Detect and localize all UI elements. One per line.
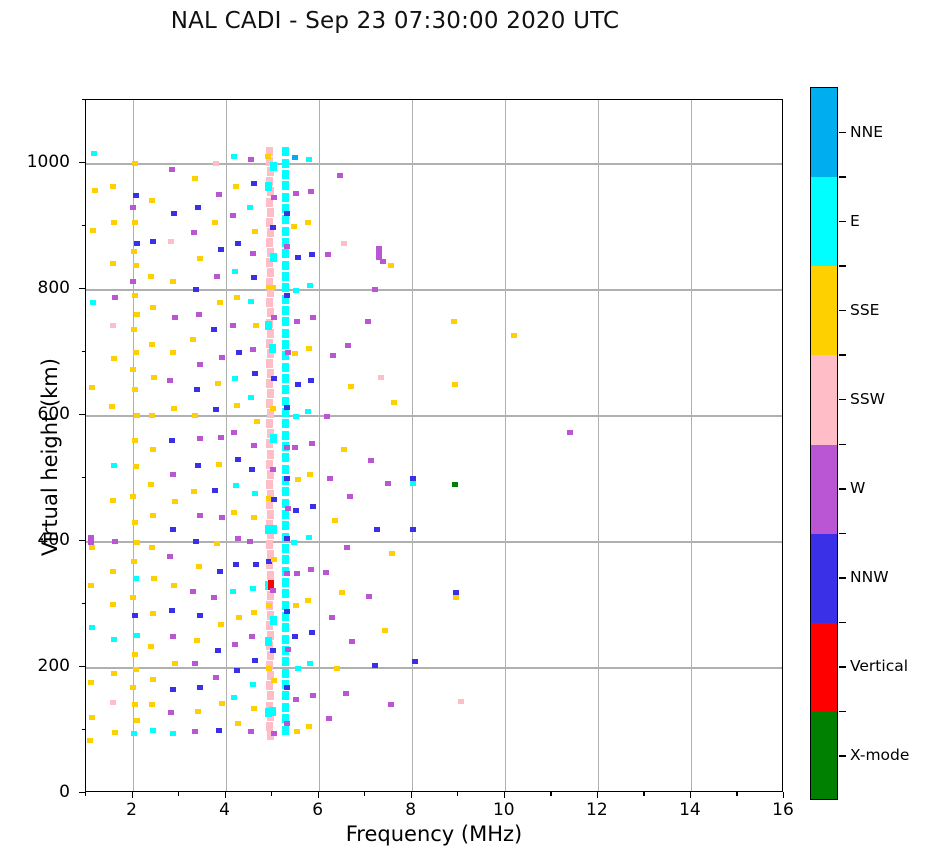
data-point [150, 305, 156, 310]
data-point [216, 462, 222, 467]
data-point [292, 634, 298, 639]
data-point [344, 545, 350, 550]
data-point [284, 405, 290, 410]
data-point [171, 583, 177, 588]
data-point [282, 193, 289, 202]
data-point [89, 545, 95, 550]
data-point [133, 350, 139, 355]
data-point [235, 457, 241, 462]
data-point [282, 147, 289, 156]
data-point [252, 229, 258, 234]
data-point [190, 337, 196, 342]
data-point [309, 441, 315, 446]
page-title: NAL CADI - Sep 23 07:30:00 2020 UTC [0, 8, 790, 34]
colorbar-label-e: E [850, 212, 860, 230]
data-point [293, 288, 299, 293]
data-point [282, 329, 289, 338]
x-tick-minor [736, 792, 737, 796]
data-point [197, 685, 203, 690]
data-point [195, 709, 201, 714]
data-point [132, 161, 138, 166]
data-point [195, 463, 201, 468]
data-point [284, 244, 290, 249]
data-point [294, 319, 300, 324]
data-point [327, 476, 333, 481]
data-point [282, 215, 289, 224]
data-point [132, 652, 138, 657]
data-point [293, 697, 299, 702]
data-point [213, 675, 219, 680]
data-point [89, 715, 95, 720]
data-point [252, 658, 258, 663]
data-point [337, 173, 343, 178]
y-tick-minor [82, 729, 86, 730]
data-point [251, 275, 257, 280]
data-point [132, 387, 138, 392]
data-point [368, 458, 374, 463]
data-point [410, 481, 416, 486]
data-point [267, 510, 274, 519]
data-point [110, 498, 116, 503]
x-tick-minor [85, 792, 86, 796]
data-point [248, 157, 254, 162]
data-point [197, 256, 203, 261]
data-point [282, 249, 289, 258]
y-tick-label: 1000 [10, 152, 70, 172]
data-point [341, 241, 347, 246]
data-point [172, 661, 178, 666]
data-point [191, 489, 197, 494]
x-tick-minor [364, 792, 365, 796]
x-tick-minor [643, 792, 644, 796]
data-point [271, 376, 277, 381]
data-point [219, 355, 225, 360]
data-point [266, 419, 273, 428]
data-point [148, 482, 154, 487]
data-point [305, 598, 311, 603]
data-point [250, 682, 256, 687]
data-point [308, 189, 314, 194]
data-point [110, 323, 116, 328]
data-point [282, 170, 289, 179]
data-point [248, 395, 254, 400]
data-point [131, 327, 137, 332]
data-point [306, 724, 312, 729]
data-point [293, 603, 299, 608]
data-point [193, 539, 199, 544]
data-point [231, 430, 237, 435]
data-point [232, 376, 238, 381]
colorbar-tick [839, 399, 846, 401]
data-point [282, 578, 289, 587]
x-tick [504, 792, 505, 798]
data-point [92, 188, 98, 193]
data-point [265, 321, 272, 330]
data-point [112, 295, 118, 300]
data-point [282, 227, 289, 236]
data-point [267, 208, 274, 217]
x-tick-label: 10 [493, 800, 515, 820]
data-point [168, 239, 174, 244]
data-point [282, 669, 289, 678]
data-point [170, 687, 176, 692]
data-point [252, 371, 258, 376]
data-point [285, 350, 291, 355]
colorbar-band-w [811, 445, 837, 534]
data-point [196, 564, 202, 569]
data-point [282, 589, 289, 598]
data-point [235, 721, 241, 726]
data-point [347, 494, 353, 499]
data-point [251, 706, 257, 711]
data-point [88, 680, 94, 685]
data-point [266, 603, 272, 608]
data-point [230, 323, 236, 328]
data-point [253, 562, 259, 567]
data-point [218, 622, 224, 627]
data-point [148, 644, 154, 649]
data-point [218, 435, 224, 440]
x-tick-label: 2 [126, 800, 137, 820]
data-point [87, 738, 93, 743]
data-point [267, 450, 274, 459]
data-point [248, 729, 254, 734]
data-point [234, 403, 240, 408]
data-point [219, 701, 225, 706]
colorbar-boundary-tick [839, 533, 846, 535]
data-point [270, 253, 277, 262]
data-point [110, 261, 116, 266]
data-point [295, 666, 301, 671]
x-tick [318, 792, 319, 798]
data-point [282, 385, 289, 394]
y-tick-minor [82, 225, 86, 226]
data-point [292, 351, 298, 356]
data-point [89, 385, 95, 390]
data-point [412, 659, 418, 664]
data-point [150, 677, 156, 682]
colorbar-band-ssw [811, 355, 837, 444]
data-point [348, 384, 354, 389]
data-point [90, 228, 96, 233]
x-tick-label: 8 [405, 800, 416, 820]
data-point [247, 205, 253, 210]
data-point [150, 611, 156, 616]
data-point [231, 510, 237, 515]
y-tick-minor [82, 351, 86, 352]
data-point [235, 536, 241, 541]
data-point [197, 513, 203, 518]
data-point [326, 716, 332, 721]
data-point [292, 155, 298, 160]
data-point [282, 431, 289, 440]
colorbar-label-nnw: NNW [850, 568, 889, 586]
data-point [134, 633, 140, 638]
data-point [306, 346, 312, 351]
x-tick [225, 792, 226, 798]
data-point [305, 409, 311, 414]
y-tick [79, 540, 85, 541]
data-point [453, 595, 459, 600]
data-point [284, 211, 290, 216]
y-axis-title: Virtual height (km) [38, 307, 62, 607]
data-point [265, 154, 271, 159]
data-point [325, 252, 331, 257]
data-point [307, 661, 313, 666]
data-point [110, 700, 116, 705]
data-point [282, 465, 289, 474]
data-point [293, 508, 299, 513]
data-point [282, 261, 289, 270]
y-tick [79, 792, 85, 793]
data-point [110, 184, 116, 189]
data-point [196, 312, 202, 317]
data-point [231, 695, 237, 700]
data-point [236, 350, 242, 355]
data-point [149, 702, 155, 707]
data-point [284, 536, 290, 541]
data-point [211, 595, 217, 600]
data-point [266, 540, 273, 549]
data-point [282, 691, 289, 700]
data-point [307, 472, 313, 477]
data-point [91, 151, 97, 156]
data-point [308, 378, 314, 383]
data-point [253, 323, 259, 328]
data-point [365, 319, 371, 324]
data-point [90, 300, 96, 305]
data-point [230, 589, 236, 594]
data-point [458, 699, 464, 704]
data-point [130, 685, 136, 690]
data-point [282, 487, 289, 496]
data-point [150, 728, 156, 733]
data-point [111, 463, 117, 468]
x-tick [411, 792, 412, 798]
data-point [339, 590, 345, 595]
data-point [111, 356, 117, 361]
data-point [270, 225, 276, 230]
data-point [134, 413, 140, 418]
data-point [270, 467, 276, 472]
data-point [190, 589, 196, 594]
colorbar [810, 87, 838, 800]
data-point [149, 342, 155, 347]
data-point [306, 535, 312, 540]
data-point [252, 491, 258, 496]
data-point [110, 569, 116, 574]
data-point [451, 319, 457, 324]
data-point [236, 615, 242, 620]
data-point [389, 551, 395, 556]
data-point [197, 436, 203, 441]
data-point [282, 453, 289, 462]
data-point [133, 263, 139, 268]
data-point [191, 230, 197, 235]
data-point [211, 327, 217, 332]
colorbar-label-sse: SSE [850, 301, 879, 319]
data-point [89, 625, 95, 630]
data-point [282, 544, 289, 553]
data-point [284, 293, 290, 298]
data-point [309, 252, 315, 257]
data-point [133, 464, 139, 469]
data-point [111, 671, 117, 676]
x-tick [783, 792, 784, 798]
data-point [233, 184, 239, 189]
data-point [282, 340, 289, 349]
data-point [266, 359, 273, 368]
x-axis-title: Frequency (MHz) [85, 822, 783, 846]
colorbar-band-nne [811, 88, 837, 177]
data-point [214, 541, 220, 546]
data-point [293, 191, 299, 196]
data-point [150, 513, 156, 518]
data-point [282, 283, 289, 292]
data-point [112, 730, 118, 735]
data-point [282, 317, 289, 326]
data-point [271, 678, 277, 683]
data-point [216, 728, 222, 733]
data-point [366, 594, 372, 599]
data-point [270, 588, 276, 593]
data-point [266, 666, 272, 671]
data-point [452, 482, 458, 487]
data-point [266, 722, 273, 731]
data-point [192, 176, 198, 181]
data-point [197, 362, 203, 367]
x-tick [690, 792, 691, 798]
x-tick-minor [271, 792, 272, 796]
data-point [282, 419, 289, 428]
data-point [284, 609, 290, 614]
data-point [112, 539, 118, 544]
x-tick-label: 12 [586, 800, 608, 820]
data-point [88, 583, 94, 588]
data-point [133, 576, 139, 581]
y-tick-label: 200 [10, 656, 70, 676]
data-point [233, 562, 239, 567]
data-point [132, 613, 138, 618]
data-point [270, 406, 276, 411]
data-point [310, 315, 316, 320]
data-point [130, 367, 136, 372]
scatter-data-layer [86, 100, 782, 791]
data-point [132, 438, 138, 443]
x-tick [597, 792, 598, 798]
data-point [282, 635, 289, 644]
data-point [266, 238, 273, 247]
data-point [282, 726, 289, 735]
y-tick [79, 162, 85, 163]
x-tick-minor [178, 792, 179, 796]
data-point [378, 375, 384, 380]
data-point [270, 434, 277, 443]
data-point [309, 630, 315, 635]
data-point [372, 287, 378, 292]
data-point [217, 569, 223, 574]
data-point [251, 515, 257, 520]
data-point [267, 268, 274, 277]
colorbar-band-sse [811, 266, 837, 355]
data-point [247, 539, 253, 544]
data-point [110, 602, 116, 607]
data-point [251, 443, 257, 448]
data-point [167, 554, 173, 559]
data-point [295, 382, 301, 387]
data-point [332, 518, 338, 523]
y-tick [79, 414, 85, 415]
data-point [382, 628, 388, 633]
data-point [323, 570, 329, 575]
data-point [148, 274, 154, 279]
data-point [192, 661, 198, 666]
data-point [232, 642, 238, 647]
data-point [271, 195, 277, 200]
y-tick [79, 288, 85, 289]
data-point [284, 571, 290, 576]
colorbar-band-e [811, 177, 837, 266]
data-point [251, 181, 257, 186]
data-point [282, 703, 289, 712]
data-point [270, 648, 276, 653]
data-point [324, 414, 330, 419]
data-point [270, 616, 277, 625]
data-point [151, 576, 157, 581]
data-point [231, 154, 237, 159]
colorbar-tick [839, 666, 846, 668]
x-tick-label: 4 [219, 800, 230, 820]
data-point [267, 571, 274, 580]
data-point [216, 192, 222, 197]
colorbar-label-vertical: Vertical [850, 657, 908, 675]
data-point [111, 220, 117, 225]
data-point [282, 181, 289, 190]
data-point [249, 467, 255, 472]
data-point [192, 413, 198, 418]
data-point [217, 300, 223, 305]
data-point [270, 525, 277, 534]
data-point [150, 239, 156, 244]
data-point [292, 445, 298, 450]
y-tick-label: 0 [10, 782, 70, 802]
data-point [197, 613, 203, 618]
data-point [380, 259, 386, 264]
data-point [170, 731, 176, 736]
data-point [282, 510, 289, 519]
data-point [213, 407, 219, 412]
data-point [250, 586, 256, 591]
data-point [270, 285, 276, 290]
data-point [284, 476, 290, 481]
data-point [271, 731, 277, 736]
colorbar-tick [839, 310, 846, 312]
colorbar-boundary-tick [839, 444, 846, 446]
data-point [282, 623, 289, 632]
data-point [131, 731, 137, 736]
data-point [169, 438, 175, 443]
data-point [170, 279, 176, 284]
data-point [334, 666, 340, 671]
data-point [133, 667, 139, 672]
data-point [193, 287, 199, 292]
y-tick-minor [82, 477, 86, 478]
colorbar-label-w: W [850, 479, 865, 497]
data-point [295, 255, 301, 260]
data-point [233, 483, 239, 488]
data-point [212, 220, 218, 225]
data-point [149, 545, 155, 550]
